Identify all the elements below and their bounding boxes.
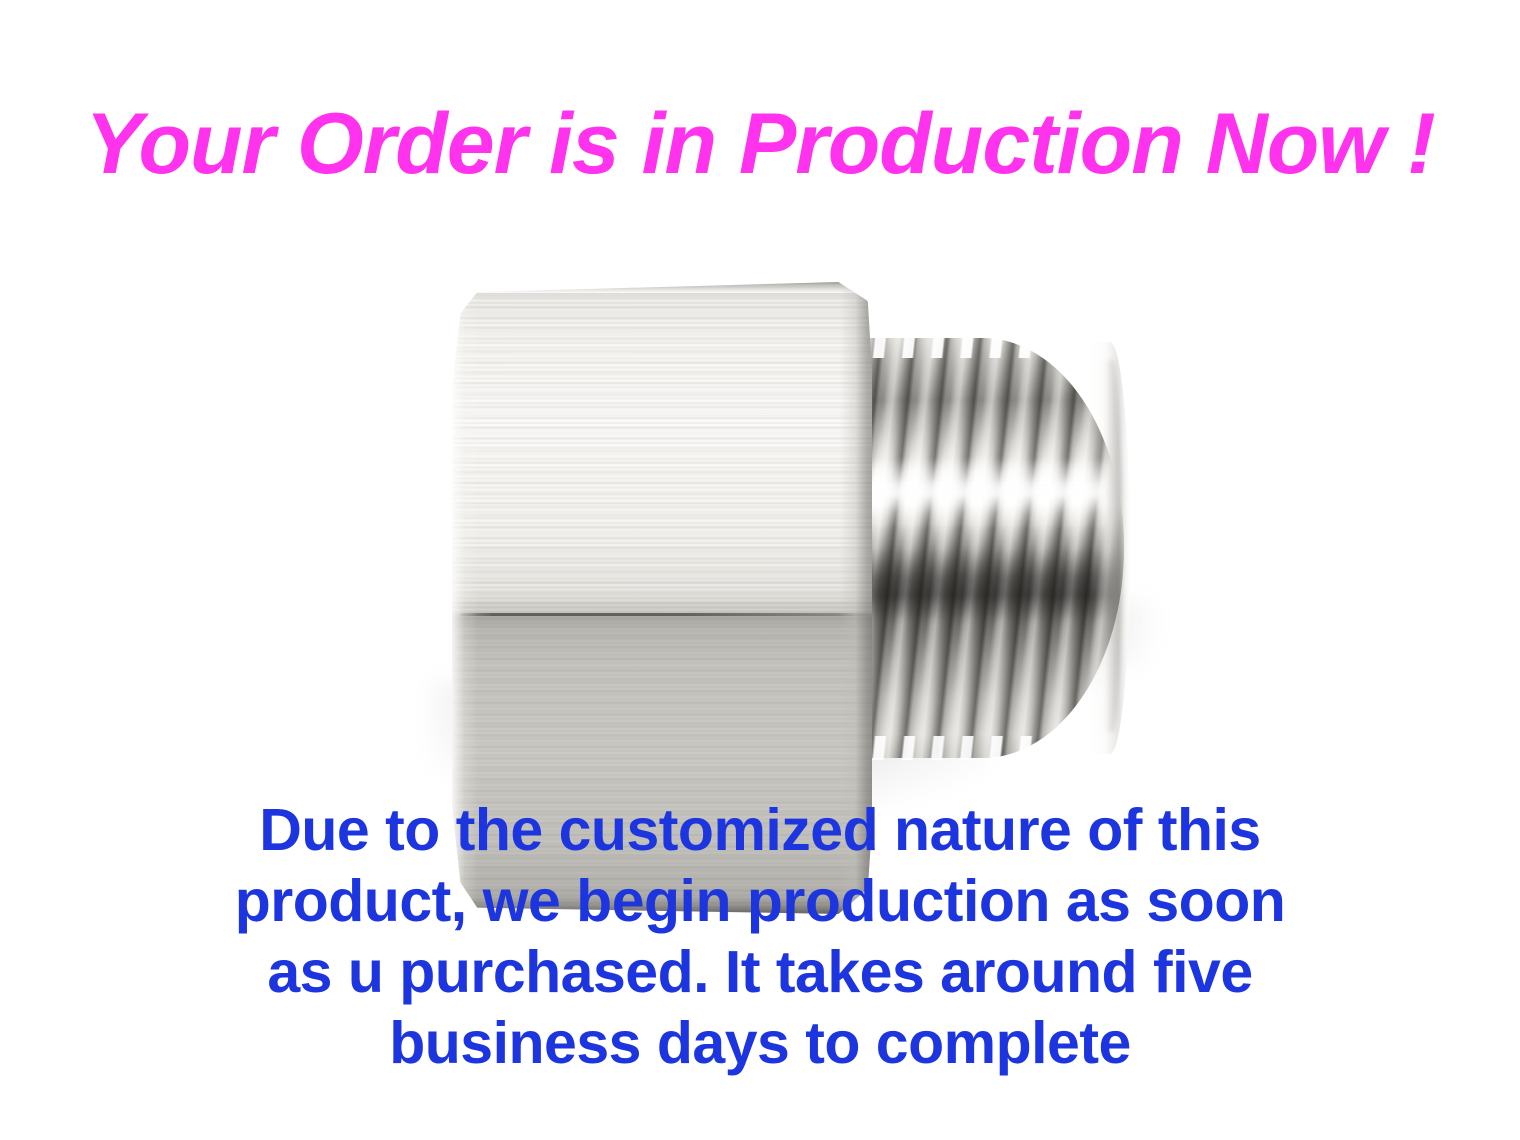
promo-image-canvas: Your Order is in Production Now ! xyxy=(0,0,1520,1140)
thread-end-edge xyxy=(1104,360,1122,732)
product-photo xyxy=(0,210,1520,790)
page-title: Your Order is in Production Now ! xyxy=(0,96,1520,192)
thread-shadow-band xyxy=(862,550,1124,622)
thread-highlight xyxy=(862,458,1124,528)
threaded-nipple xyxy=(862,338,1124,758)
notice-line-3: as u purchased. It takes around five xyxy=(0,937,1520,1008)
machining-grain-top xyxy=(452,282,872,612)
notice-line-2: product, we begin production as soon xyxy=(0,866,1520,937)
hex-top-edge xyxy=(462,282,866,293)
notice-line-4: business days to complete xyxy=(0,1008,1520,1079)
thread-grooves xyxy=(862,338,1124,758)
production-notice: Due to the customized nature of this pro… xyxy=(0,795,1520,1079)
notice-line-1: Due to the customized nature of this xyxy=(0,795,1520,866)
thread-barrel xyxy=(862,338,1124,758)
hex-facet-edge xyxy=(460,613,868,616)
